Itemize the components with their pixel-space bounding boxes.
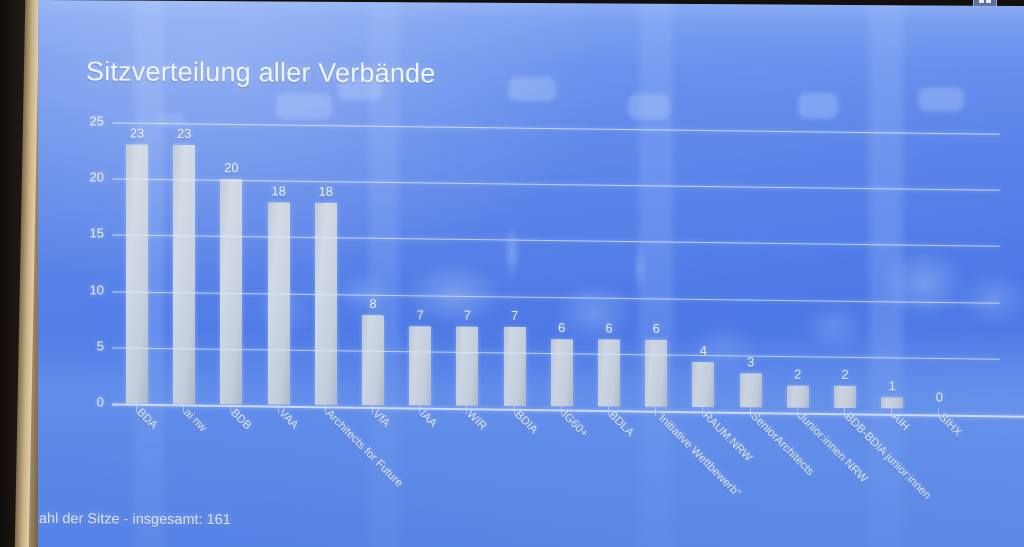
screenshot-root: Sitzverteilung aller Verbände 23BDA23ai …: [0, 0, 1024, 547]
bar-group[interactable]: 3SeniorArchitects: [740, 126, 762, 407]
bar-value-label: 0: [921, 389, 957, 404]
bar[interactable]: [787, 385, 809, 408]
bar-chart: Sitzverteilung aller Verbände 23BDA23ai …: [38, 0, 1024, 547]
bar[interactable]: [834, 385, 856, 408]
y-axis-tick-label: 5: [70, 338, 104, 353]
bar[interactable]: [409, 327, 431, 406]
bar-group[interactable]: 6BDLA: [598, 125, 620, 406]
x-axis-tick-label: VAA: [276, 407, 300, 431]
chart-title: Sitzverteilung aller Verbände: [86, 56, 436, 89]
bar[interactable]: [362, 315, 384, 405]
x-axis-tick-label: BDIA: [512, 409, 539, 437]
bar[interactable]: [504, 327, 526, 406]
projection-screen: Sitzverteilung aller Verbände 23BDA23ai …: [38, 0, 1024, 547]
bar[interactable]: [881, 397, 903, 408]
x-axis-tick-label: BDLA: [606, 409, 636, 439]
bar-value-label: 7: [497, 308, 533, 323]
bar-value-label: 7: [402, 308, 438, 323]
x-axis-tick-label: BDB-BDIA junior:innen: [842, 411, 933, 502]
x-axis-tick-label: IG60+: [559, 409, 590, 440]
bar[interactable]: [740, 374, 762, 408]
window-controls-badge[interactable]: [973, 0, 997, 7]
x-axis-tick-label: Architects for Future: [323, 408, 405, 490]
bar[interactable]: [220, 179, 242, 404]
bar[interactable]: [268, 202, 290, 404]
bar-group[interactable]: 7IAA: [409, 124, 431, 405]
bar-value-label: 23: [166, 126, 202, 141]
bar-value-label: 1: [874, 378, 910, 393]
plot-area: 23BDA23ai nw20BDB18VAA18Architects for F…: [70, 122, 1000, 409]
y-axis-tick-label: 10: [70, 282, 104, 297]
chart-caption: Anzahl der Sitze - insgesamt: 161: [38, 511, 231, 528]
bar-series: 23BDA23ai nw20BDB18VAA18Architects for F…: [118, 122, 1000, 408]
bar-group[interactable]: 7WIR: [456, 125, 478, 406]
bar[interactable]: [598, 339, 620, 407]
y-axis-tick-label: 20: [70, 169, 104, 184]
bar-group[interactable]: 23BDA: [126, 123, 148, 404]
bar-group[interactable]: 1AIH: [881, 127, 903, 408]
bar-value-label: 20: [213, 160, 249, 175]
x-axis-tick-label: "Initiative Wettbewerb": [653, 410, 743, 500]
bar-value-label: 23: [119, 126, 155, 141]
bar[interactable]: [126, 145, 148, 404]
bar[interactable]: [645, 339, 667, 407]
bar[interactable]: [551, 339, 573, 407]
bar-value-label: 8: [355, 296, 391, 311]
bar-value-label: 6: [638, 320, 674, 335]
bar-group[interactable]: 8VfA: [362, 124, 384, 405]
bar-value-label: 2: [827, 366, 863, 381]
bar-group[interactable]: 23ai nw: [173, 123, 195, 404]
bar-group[interactable]: 4RAUM.NRW: [692, 126, 714, 407]
bar-group[interactable]: 18VAA: [268, 123, 290, 404]
y-axis-tick-label: 25: [70, 113, 104, 128]
bar-value-label: 6: [591, 320, 627, 335]
bar-value-label: 7: [449, 308, 485, 323]
bar-value-label: 18: [308, 183, 344, 198]
bar[interactable]: [692, 362, 714, 407]
bar-group[interactable]: 18Architects for Future: [315, 124, 337, 405]
bar[interactable]: [456, 327, 478, 406]
bar-group[interactable]: 6"Initiative Wettbewerb": [645, 126, 667, 407]
bar[interactable]: [315, 202, 337, 404]
bar-group[interactable]: 6IG60+: [551, 125, 573, 406]
y-axis-tick-label: 0: [70, 394, 104, 409]
bar-group[interactable]: 2Junior:innen NRW: [787, 127, 809, 408]
x-axis-tick-label: VfA: [370, 408, 392, 430]
badge-dot-icon: [979, 0, 984, 3]
x-axis-tick-label: ai nw: [181, 407, 208, 435]
bar-group[interactable]: 7BDIA: [504, 125, 526, 406]
bar-group[interactable]: 2BDB-BDIA junior:innen: [834, 127, 856, 408]
y-axis-tick-label: 15: [70, 226, 104, 241]
x-axis-tick-label: BDB: [229, 407, 254, 432]
bar-value-label: 18: [261, 183, 297, 198]
bar-value-label: 2: [780, 366, 816, 381]
bar-value-label: 6: [544, 320, 580, 335]
x-axis-tick-label: WIR: [465, 408, 489, 432]
bar-value-label: 3: [733, 355, 769, 370]
bar-group[interactable]: 20BDB: [220, 123, 242, 404]
badge-dot-icon: [986, 0, 991, 3]
bar-group[interactable]: 0SIHX: [928, 127, 950, 408]
x-axis-tick-label: IAA: [417, 408, 439, 430]
bar[interactable]: [173, 145, 195, 404]
x-axis-tick-label: BDA: [134, 406, 159, 431]
